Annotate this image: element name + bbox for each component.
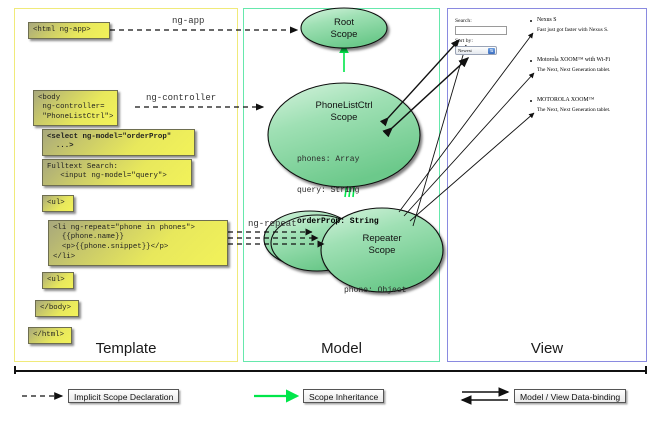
view-search-label: Search: bbox=[455, 18, 472, 24]
legend-separator bbox=[14, 370, 647, 372]
legend-separator-cap-left bbox=[14, 366, 16, 374]
phone-snippet: The Next, Next Generation tablet. bbox=[537, 67, 610, 73]
bullet-icon bbox=[530, 20, 532, 22]
legend-implicit-scope-declaration: Implicit Scope Declaration bbox=[68, 389, 179, 403]
column-label-model: Model bbox=[244, 340, 439, 357]
phone-snippet: The Next, Next Generation tablet. bbox=[537, 107, 610, 113]
legend-separator-cap-right bbox=[645, 366, 647, 374]
chevron-updown-icon[interactable]: ⇅ bbox=[488, 48, 495, 54]
code-box-ul-close[interactable]: <ul> bbox=[42, 272, 74, 289]
code-box-ul-open[interactable]: <ul> bbox=[42, 195, 74, 212]
phone-snippet: Fast just got faster with Nexus S. bbox=[537, 27, 608, 33]
phonelistctrl-scope-props: phones: Array query: String orderProp: S… bbox=[297, 134, 379, 248]
code-box-li-repeat[interactable]: <li ng-repeat="phone in phones"> {{phone… bbox=[48, 220, 228, 266]
code-box-body-open[interactable]: <body ng-controller= "PhoneListCtrl"> bbox=[33, 90, 118, 126]
sort-select[interactable]: Newest ⇅ bbox=[455, 46, 497, 55]
search-input[interactable] bbox=[455, 26, 507, 35]
scope-prop-query: query: String bbox=[297, 186, 379, 196]
scope-prop-phone: phone: Object bbox=[344, 286, 406, 296]
phonelistctrl-scope-title: PhoneListCtrl Scope bbox=[290, 100, 398, 123]
legend-model-view-data-binding: Model / View Data-binding bbox=[514, 389, 626, 403]
legend-glyph-databinding bbox=[462, 392, 508, 400]
bullet-icon bbox=[530, 100, 532, 102]
root-scope-title: Root Scope bbox=[310, 17, 378, 40]
scope-prop-phones: phones: Array bbox=[297, 155, 379, 165]
repeater-scope-title: Repeater Scope bbox=[342, 233, 422, 256]
scope-prop-orderprop: orderProp: String bbox=[297, 217, 379, 227]
view-sort-label: Sort by: bbox=[455, 38, 473, 44]
repeater-scope-props: phone: Object bbox=[344, 265, 406, 317]
bullet-icon bbox=[530, 60, 532, 62]
code-box-body-close[interactable]: </body> bbox=[35, 300, 79, 317]
arrow-label-ng-controller: ng-controller bbox=[146, 93, 216, 103]
arrow-label-ng-repeat: ng-repeat bbox=[248, 219, 297, 229]
column-label-view: View bbox=[448, 340, 646, 357]
code-box-fulltext-search[interactable]: Fulltext Search: <input ng-model="query"… bbox=[42, 159, 192, 186]
phone-name: Nexus S bbox=[537, 17, 557, 23]
legend-scope-inheritance: Scope Inheritance bbox=[303, 389, 384, 403]
diagram-canvas: Template Model View bbox=[0, 0, 661, 425]
arrow-label-ng-app: ng-app bbox=[172, 16, 204, 26]
phone-name: Motorola XOOM™ with Wi-Fi bbox=[537, 57, 610, 63]
code-box-select-tag[interactable]: <select ng-model="orderProp" ...> bbox=[42, 129, 195, 156]
code-box-html-open[interactable]: <html ng-app> bbox=[28, 22, 110, 39]
phone-name: MOTOROLA XOOM™ bbox=[537, 97, 594, 103]
code-box-html-close[interactable]: </html> bbox=[28, 327, 72, 344]
sort-select-value: Newest bbox=[458, 48, 472, 53]
